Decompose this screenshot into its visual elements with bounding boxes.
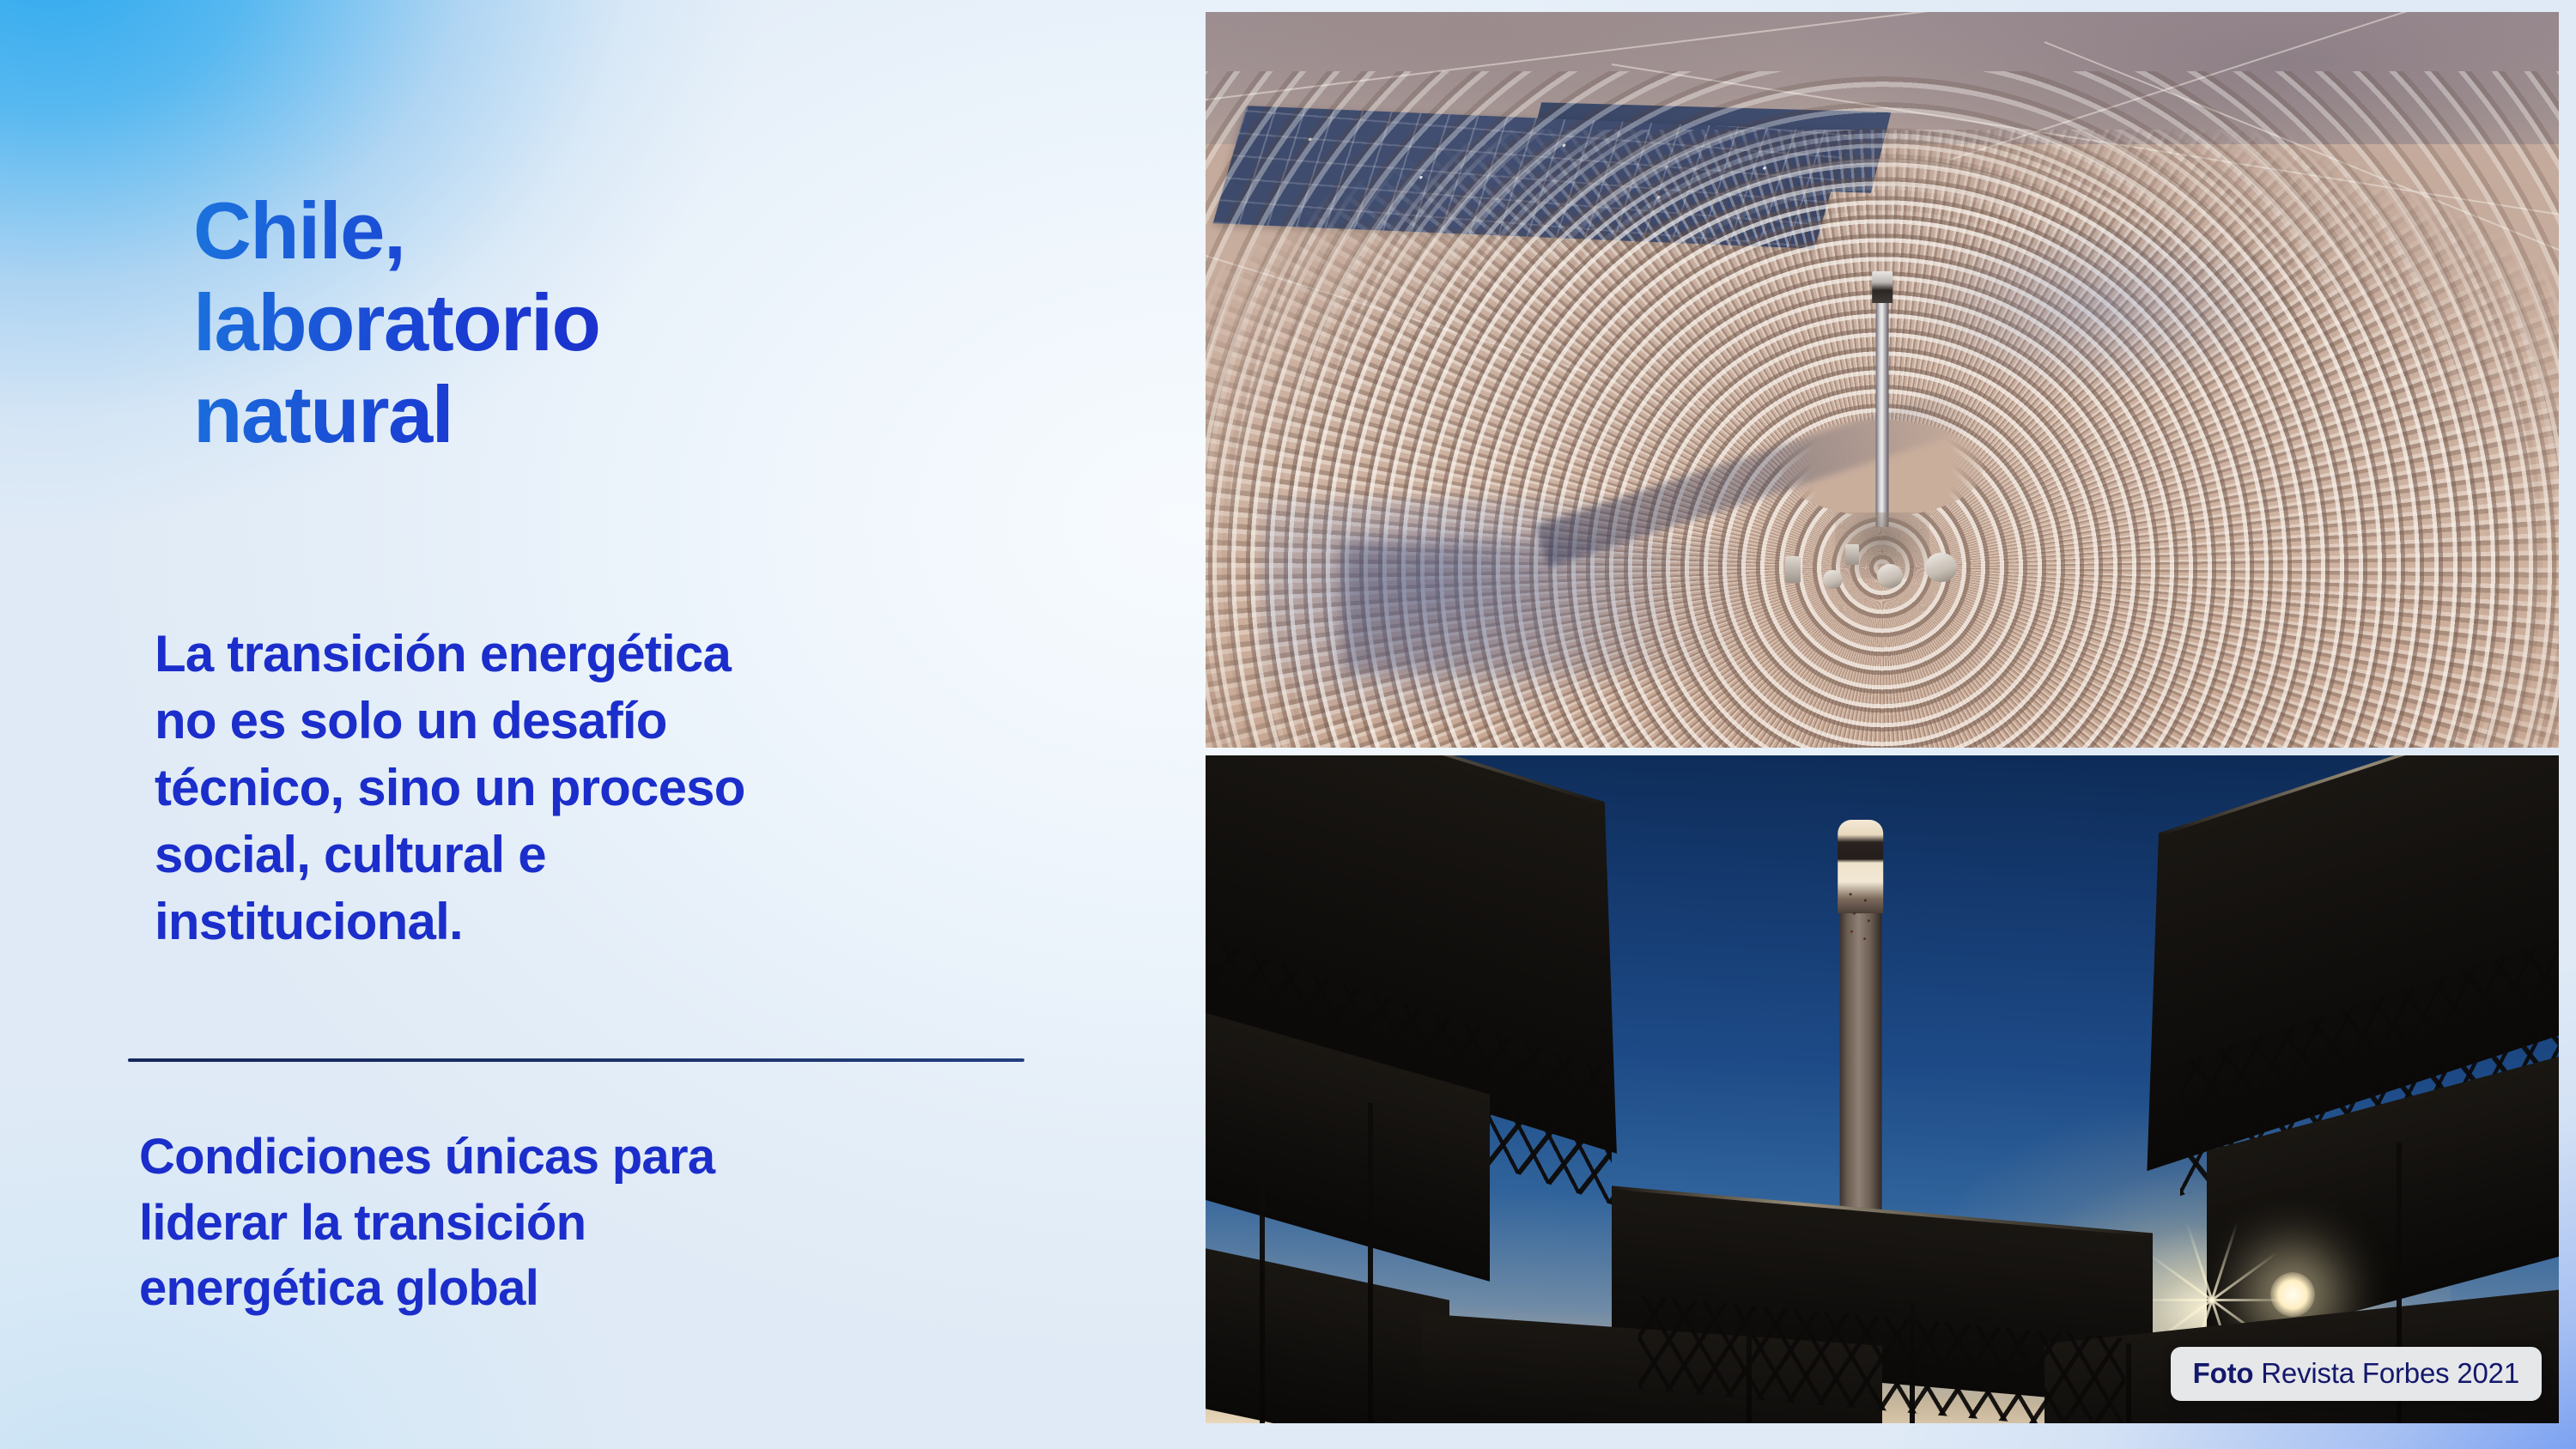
storage-tank [1823, 570, 1844, 589]
lead-paragraph: La transición energética no es solo un d… [155, 621, 1013, 955]
heliostat-pylon [1910, 1303, 1915, 1423]
tower-shadow [1341, 542, 1747, 674]
mirror-glare-patch [1910, 218, 2288, 395]
photo-aerial-solar-plant: Vista aérea de planta solar de concentra… [1206, 12, 2559, 748]
kicker-paragraph: Condiciones únicas para liderar la trans… [139, 1125, 1015, 1322]
tower-receiver [1872, 271, 1893, 304]
solar-tower [1876, 277, 1889, 527]
heliostat-pylon [2126, 1343, 2131, 1423]
aerial-scene [1206, 12, 2559, 748]
heliostat-pylon [1747, 1330, 1752, 1423]
text-column: Chile, laboratorio natural La transición… [0, 0, 1206, 1449]
page-title: Chile, laboratorio natural [193, 185, 966, 460]
plant-building [1785, 556, 1801, 583]
storage-tank [1925, 553, 1956, 582]
heliostat-pylon [1368, 1103, 1373, 1423]
photo-credit: Foto Revista Forbes 2021 [2171, 1347, 2542, 1401]
tower-detail-markings [1840, 886, 1880, 946]
divider [128, 1058, 1024, 1062]
photo-credit-source: Revista Forbes 2021 [2253, 1357, 2519, 1389]
ground-level-scene [1206, 755, 2559, 1423]
slide-root: Chile, laboratorio natural La transición… [0, 0, 2576, 1449]
plant-building [1845, 544, 1859, 565]
storage-tank [1877, 564, 1903, 588]
sun-disc [2270, 1272, 2315, 1317]
photo-heliostats-sunset: Foto Revista Forbes 2021 Vista a nivel d… [1206, 755, 2559, 1423]
photo-credit-label: Foto [2193, 1357, 2254, 1389]
heliostat-pylon [1260, 1183, 1265, 1423]
